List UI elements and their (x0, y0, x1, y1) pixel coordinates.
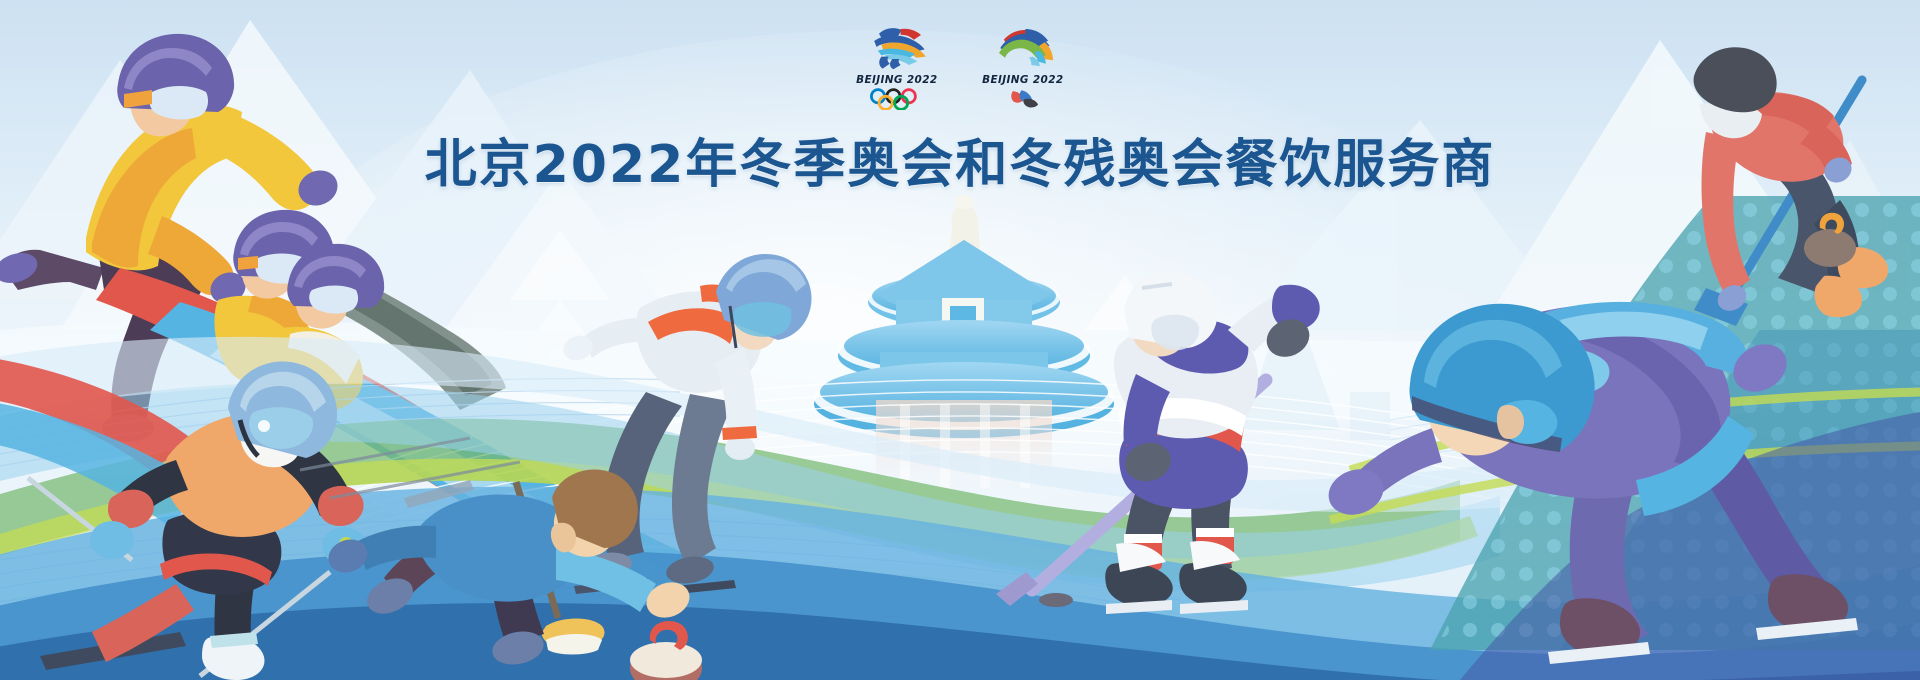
banner-root: BEIJING 2022 BEIJIN (0, 0, 1920, 680)
olympic-winter-emblem-icon (861, 24, 933, 70)
agitos-icon (993, 88, 1054, 110)
emblem-olympic: BEIJING 2022 (849, 24, 945, 110)
emblem-group: BEIJING 2022 BEIJIN (0, 24, 1920, 116)
paralympic-wordmark: BEIJING 2022 (982, 73, 1063, 86)
olympic-rings-icon (867, 88, 928, 110)
ski-trail (300, 438, 470, 470)
paralympic-winter-emblem-icon (987, 24, 1059, 70)
olympic-wordmark: BEIJING 2022 (856, 73, 937, 86)
page-title: 北京2022年冬季奥会和冬残奥会餐饮服务商 (0, 122, 1920, 197)
emblem-paralympic: BEIJING 2022 (975, 24, 1071, 110)
ski-tip (404, 480, 474, 508)
